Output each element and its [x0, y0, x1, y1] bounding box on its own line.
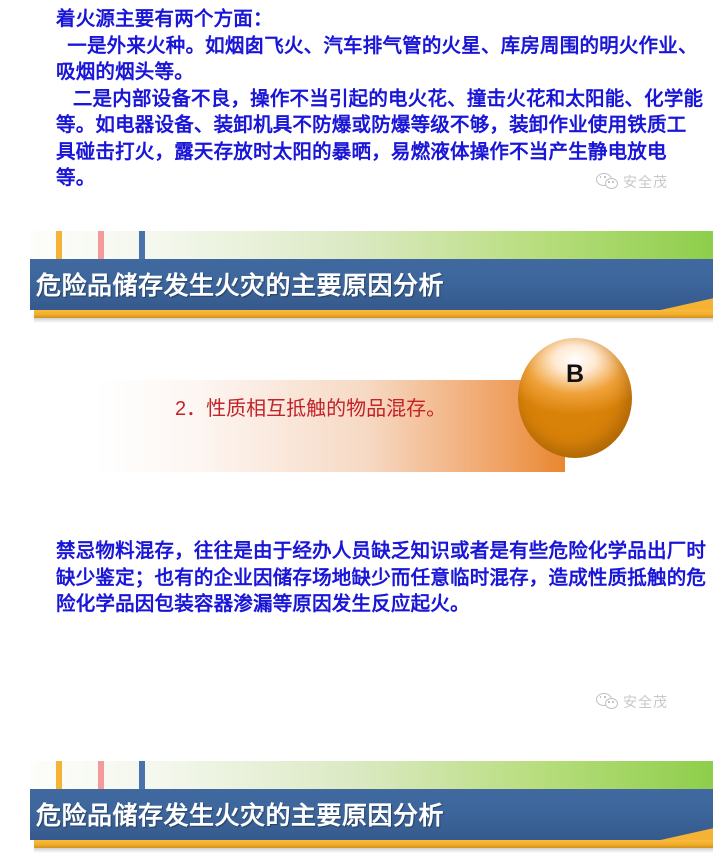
banner-corner-notch — [656, 298, 713, 310]
watermark-top: 安全茂 — [596, 172, 668, 192]
banner-tick-orange — [56, 231, 62, 259]
callout-badge-sphere: B — [518, 338, 632, 458]
callout-text: 2．性质相互抵触的物品混存。 — [175, 393, 505, 426]
watermark-label: 安全茂 — [623, 172, 668, 192]
banner-shadow — [34, 848, 713, 853]
banner-title: 危险品储存发生火灾的主要原因分析 — [36, 267, 444, 305]
body-paragraph: 禁忌物料混存，往往是由于经办人员缺乏知识或者是有些危险化学品出厂时缺少鉴定；也有… — [56, 538, 708, 618]
wechat-icon — [596, 693, 618, 711]
watermark-label: 安全茂 — [623, 692, 668, 712]
callout-badge-letter: B — [518, 360, 632, 389]
banner-gradient-strip — [30, 231, 713, 259]
watermark-bottom: 安全茂 — [596, 692, 668, 712]
banner-tick-orange — [56, 761, 62, 789]
banner-gradient-strip — [30, 761, 713, 789]
wechat-icon — [596, 173, 618, 191]
banner-shadow — [34, 318, 713, 323]
banner-yellow-bar — [34, 840, 713, 848]
banner-tick-pink — [98, 761, 104, 789]
section-banner-bottom: 危险品储存发生火灾的主要原因分析 — [0, 758, 713, 863]
banner-yellow-bar — [34, 310, 713, 318]
banner-tick-blue — [139, 231, 145, 259]
callout-block: 2．性质相互抵触的物品混存。 B — [0, 338, 713, 498]
banner-tick-blue — [139, 761, 145, 789]
intro-paragraph: 着火源主要有两个方面： 一是外来火种。如烟囱飞火、汽车排气管的火星、库房周围的明… — [56, 6, 704, 192]
banner-corner-notch — [656, 828, 713, 840]
banner-title: 危险品储存发生火灾的主要原因分析 — [36, 797, 444, 835]
banner-tick-pink — [98, 231, 104, 259]
section-banner-top: 危险品储存发生火灾的主要原因分析 — [0, 228, 713, 333]
